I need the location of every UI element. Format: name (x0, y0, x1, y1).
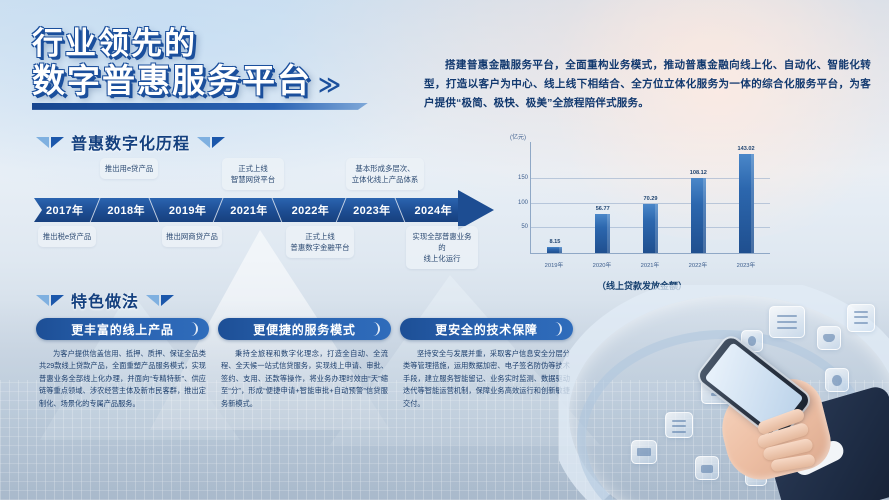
practice-card-products: 更丰富的线上产品 为客户提供信盖信用、抵押、质押、保证全品类共29款线上贷款产品… (36, 318, 209, 410)
section-heading-timeline: 普惠数字化历程 (36, 130, 225, 154)
bar-value-2022: 108.12 (690, 170, 707, 176)
y-tick-100: 100 (518, 200, 528, 206)
timeline-year-2023[interactable]: 2023年 (341, 202, 402, 218)
bar-group-2019[interactable]: 8.15 (535, 142, 576, 253)
y-tick-150: 150 (518, 175, 528, 181)
bar-2020[interactable] (595, 214, 610, 253)
title-line-1: 行业领先的 (32, 28, 392, 61)
document-icon (847, 304, 875, 332)
hand-phone-artwork (559, 285, 889, 500)
timeline-year-2024[interactable]: 2024年 (403, 202, 464, 218)
coin-icon (825, 368, 849, 392)
practice-card-service: 更便捷的服务模式 秉持全旅程和数字化理念，打造全自动、全流程、全天候一站式信贷服… (218, 318, 391, 410)
timeline-year-2021[interactable]: 2021年 (218, 202, 279, 218)
timeline-note-2023: 基本形成多层次、 立体化线上产品体系 (346, 158, 424, 190)
list-icon (665, 412, 693, 438)
bar-value-2023: 143.02 (738, 146, 755, 152)
chart-plot-area: 150 100 50 8.15 56.77 70.29 (530, 142, 770, 254)
timeline-year-2017[interactable]: 2017年 (34, 202, 95, 218)
loan-disbursement-chart: (亿元) 150 100 50 8.15 56.77 (508, 128, 776, 278)
timeline-note-2024: 实现全部普惠业务的 线上化运行 (406, 226, 478, 269)
infographic-poster: 行业领先的 数字普惠服务平台 ≫ 搭建普惠金融服务平台，全面重构业务模式，推动普… (0, 0, 889, 500)
title-line-2: 数字普惠服务平台 ≫ (32, 64, 392, 99)
poster-header: 行业领先的 数字普惠服务平台 ≫ (32, 28, 392, 110)
timeline-note-2021: 正式上线 智慧网贷平台 (222, 158, 284, 190)
section-title-timeline: 普惠数字化历程 (71, 130, 190, 154)
timeline-year-2018[interactable]: 2018年 (95, 202, 156, 218)
timeline-note-2018: 推出用e贷产品 (100, 158, 158, 179)
chart-x-axis-labels: 2019年 2020年 2021年 2022年 2023年 (530, 260, 770, 269)
practice-card-security: 更安全的技术保障 坚持安全与发展并重，采取客户信息安全分层分类等管理措施，运用数… (400, 318, 573, 410)
bar-group-2020[interactable]: 56.77 (582, 142, 623, 253)
x-label-2019: 2019年 (534, 260, 575, 269)
timeline: 2017年 2018年 2019年 2021年 2022年 2023年 2024… (34, 160, 504, 268)
x-label-2022: 2022年 (678, 260, 719, 269)
section-title-practice: 特色做法 (71, 288, 139, 312)
bar-group-2023[interactable]: 143.02 (726, 142, 767, 253)
bar-group-2021[interactable]: 70.29 (630, 142, 671, 253)
bar-value-2019: 8.15 (549, 239, 560, 245)
x-label-2021: 2021年 (630, 260, 671, 269)
bar-2019[interactable] (547, 247, 562, 253)
bar-2023[interactable] (739, 154, 754, 253)
section-heading-practice: 特色做法 (36, 288, 174, 312)
chart-unit-label: (亿元) (510, 132, 526, 141)
y-tick-50: 50 (521, 224, 528, 230)
bar-value-2020: 56.77 (596, 206, 610, 212)
x-label-2023: 2023年 (726, 260, 767, 269)
bar-2021[interactable] (643, 204, 658, 253)
x-label-2020: 2020年 (582, 260, 623, 269)
chart-bars: 8.15 56.77 70.29 108.12 143.02 (531, 142, 770, 253)
timeline-year-2022[interactable]: 2022年 (280, 202, 341, 218)
timeline-year-2019[interactable]: 2019年 (157, 202, 218, 218)
bar-value-2021: 70.29 (643, 196, 657, 202)
intro-paragraph: 搭建普惠金融服务平台，全面重构业务模式，推动普惠金融向线上化、自动化、智能化转型… (424, 56, 871, 113)
card-heading-service[interactable]: 更便捷的服务模式 (218, 318, 391, 340)
timeline-note-2019: 推出网商贷产品 (162, 226, 222, 247)
triangle-marker-left-icon-2 (36, 295, 64, 306)
card-body-products: 为客户提供信盖信用、抵押、质押、保证全品类共29款线上贷款产品，全面重塑产品服务… (36, 348, 209, 410)
shield-icon (817, 326, 841, 350)
timeline-bar: 2017年 2018年 2019年 2021年 2022年 2023年 2024… (34, 198, 464, 222)
triangle-marker-right-icon (197, 137, 225, 148)
triangle-marker-right-icon-2 (146, 295, 174, 306)
timeline-arrow-head-icon (458, 190, 494, 230)
bank-icon (631, 440, 657, 464)
bar-group-2022[interactable]: 108.12 (678, 142, 719, 253)
timeline-note-2022: 正式上线 普惠数字金融平台 (286, 226, 354, 258)
timeline-note-2017: 推出税e贷产品 (38, 226, 96, 247)
card-heading-security[interactable]: 更安全的技术保障 (400, 318, 573, 340)
title-underline-bar (32, 103, 368, 110)
card-heading-products[interactable]: 更丰富的线上产品 (36, 318, 209, 340)
chart-icon (769, 306, 805, 338)
triangle-marker-left-icon (36, 137, 64, 148)
card-body-service: 秉持全旅程和数字化理念，打造全自动、全流程、全天候一站式信贷服务，实现线上申请、… (218, 348, 391, 410)
practice-cards: 更丰富的线上产品 为客户提供信盖信用、抵押、质押、保证全品类共29款线上贷款产品… (36, 318, 574, 410)
title-line-2-text: 数字普惠服务平台 (32, 64, 312, 99)
card-body-security: 坚持安全与发展并重，采取客户信息安全分层分类等管理措施，运用数据加密、电子签名防… (400, 348, 573, 410)
chevron-right-icon: ≫ (318, 73, 336, 96)
lock-icon (695, 456, 719, 480)
bar-2022[interactable] (691, 178, 706, 253)
